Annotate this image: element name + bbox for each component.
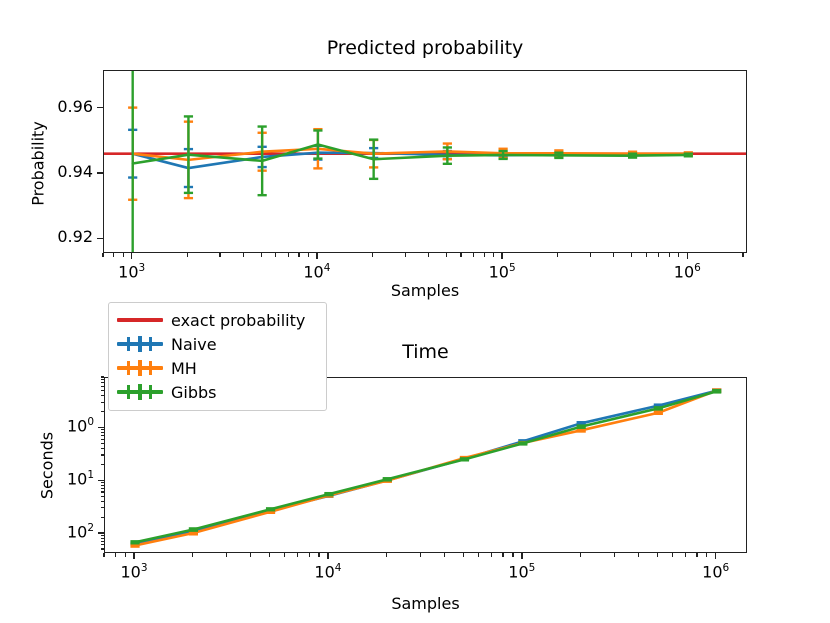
x-tick-minor (308, 253, 309, 257)
y-tick-minor (101, 376, 105, 377)
x-tick-major (131, 253, 132, 259)
y-tick-minor (101, 390, 105, 391)
y-tick-minor (101, 544, 105, 545)
x-tick-minor (275, 253, 276, 257)
x-tick-minor (631, 253, 632, 257)
x-tick-minor (420, 553, 421, 557)
x-tick-minor (113, 253, 114, 257)
plot-content-predicted-probability (104, 71, 746, 252)
x-tick-minor (484, 253, 485, 257)
x-tick-minor (657, 553, 658, 557)
x-tick-minor (493, 253, 494, 257)
x-tick-minor (590, 253, 591, 257)
x-tick-minor (638, 553, 639, 557)
x-tick-minor (580, 553, 581, 557)
legend-swatch-naive-icon (117, 333, 163, 355)
legend-label: exact probability (163, 311, 305, 330)
y-tick-minor (101, 535, 105, 536)
x-tick-minor (557, 253, 558, 257)
legend-item-mh[interactable]: MH (117, 356, 318, 380)
legend-swatch-exact-probability-icon (117, 309, 163, 331)
x-axis-label-samples-bottom: Samples (104, 594, 747, 613)
x-tick-minor (123, 253, 124, 257)
y-tick-minor (101, 411, 105, 412)
x-tick-minor (297, 553, 298, 557)
x-tick-minor (646, 253, 647, 257)
x-tick-major (687, 253, 688, 259)
x-tick-minor (685, 553, 686, 557)
y-tick-minor (101, 386, 105, 387)
x-tick-minor (103, 553, 104, 557)
y-tick-major (98, 480, 104, 481)
plot-area-predicted-probability (103, 70, 747, 253)
x-tick-minor (658, 253, 659, 257)
x-tick-minor (386, 553, 387, 557)
y-tick-label: 0.94 (35, 162, 93, 181)
legend-swatch-mh-icon (117, 357, 163, 379)
y-tick-minor (101, 439, 105, 440)
x-tick-minor (478, 553, 479, 557)
x-tick-minor (125, 553, 126, 557)
x-tick-minor (706, 553, 707, 557)
x-tick-minor (428, 253, 429, 257)
x-tick-minor (261, 253, 262, 257)
figure-canvas: Predicted probability Probability Sample… (0, 0, 830, 623)
y-tick-minor (101, 443, 105, 444)
x-tick-minor (460, 253, 461, 257)
x-tick-minor (219, 253, 220, 257)
x-tick-major (715, 553, 716, 559)
y-tick-label: 101 (36, 469, 94, 488)
x-tick-minor (512, 553, 513, 557)
x-tick-label: 106 (665, 262, 709, 281)
y-tick-minor (101, 435, 105, 436)
x-tick-label: 104 (306, 562, 350, 581)
x-tick-minor (187, 253, 188, 257)
y-tick-minor (101, 488, 105, 489)
x-tick-minor (672, 553, 673, 557)
x-tick-minor (284, 553, 285, 557)
y-tick-minor (101, 538, 105, 539)
x-axis-label-samples-top: Samples (103, 281, 747, 300)
y-tick-minor (101, 496, 105, 497)
y-tick-minor (101, 432, 105, 433)
x-tick-label: 103 (112, 562, 156, 581)
y-tick-major (97, 238, 103, 239)
y-tick-minor (101, 454, 105, 455)
x-tick-minor (250, 553, 251, 557)
x-tick-minor (405, 253, 406, 257)
series-gibbs (128, 71, 693, 252)
x-tick-minor (243, 253, 244, 257)
x-tick-minor (318, 553, 319, 557)
x-tick-minor (444, 553, 445, 557)
x-tick-major (133, 553, 134, 559)
legend-item-gibbs[interactable]: Gibbs (117, 380, 318, 404)
y-tick-major (97, 107, 103, 108)
y-tick-major (98, 427, 104, 428)
y-tick-minor (101, 501, 105, 502)
x-tick-label: 105 (500, 562, 544, 581)
chart-legend[interactable]: exact probabilityNaiveMHGibbs (108, 302, 327, 411)
x-tick-minor (102, 253, 103, 257)
y-tick-minor (101, 485, 105, 486)
y-tick-minor (101, 482, 105, 483)
x-tick-minor (678, 253, 679, 257)
x-tick-major (316, 253, 317, 259)
x-tick-minor (269, 553, 270, 557)
y-tick-minor (101, 464, 105, 465)
series-gibbs (130, 390, 721, 543)
y-tick-label: 102 (36, 522, 94, 541)
x-tick-minor (309, 553, 310, 557)
x-tick-minor (669, 253, 670, 257)
x-tick-label: 105 (480, 262, 524, 281)
y-tick-minor (101, 395, 105, 396)
y-tick-minor (101, 402, 105, 403)
y-tick-minor (101, 382, 105, 383)
y-tick-minor (101, 491, 105, 492)
x-tick-minor (463, 553, 464, 557)
legend-label: Gibbs (163, 383, 217, 402)
x-tick-label: 106 (694, 562, 738, 581)
x-tick-label: 103 (110, 262, 154, 281)
x-tick-label: 104 (295, 262, 339, 281)
x-tick-minor (298, 253, 299, 257)
x-tick-minor (614, 553, 615, 557)
y-tick-minor (101, 429, 105, 430)
x-tick-minor (696, 553, 697, 557)
y-tick-label: 0.96 (35, 97, 93, 116)
series-naive (130, 390, 721, 545)
x-tick-minor (372, 253, 373, 257)
legend-label: MH (163, 359, 197, 378)
legend-label: Naive (163, 335, 217, 354)
x-tick-minor (288, 253, 289, 257)
y-tick-minor (101, 541, 105, 542)
x-tick-major (521, 553, 522, 559)
x-tick-minor (502, 553, 503, 557)
legend-item-naive[interactable]: Naive (117, 332, 318, 356)
y-tick-label: 100 (36, 416, 94, 435)
chart-title-predicted-probability: Predicted probability (103, 37, 747, 59)
y-tick-minor (101, 448, 105, 449)
x-tick-major (327, 553, 328, 559)
legend-item-exact-probability[interactable]: exact probability (117, 308, 318, 332)
x-tick-minor (192, 553, 193, 557)
y-tick-minor (101, 517, 105, 518)
legend-swatch-gibbs-icon (117, 381, 163, 403)
y-tick-minor (101, 548, 105, 549)
y-tick-major (98, 532, 104, 533)
y-tick-major (97, 172, 103, 173)
y-tick-minor (101, 507, 105, 508)
x-tick-minor (742, 253, 743, 257)
x-tick-minor (491, 553, 492, 557)
series-layer-predicted-probability (104, 71, 746, 252)
y-tick-minor (101, 379, 105, 380)
x-tick-minor (613, 253, 614, 257)
x-tick-minor (473, 253, 474, 257)
x-tick-minor (115, 553, 116, 557)
x-tick-minor (226, 553, 227, 557)
x-tick-minor (446, 253, 447, 257)
x-tick-major (501, 253, 502, 259)
y-tick-label: 0.92 (35, 227, 93, 246)
